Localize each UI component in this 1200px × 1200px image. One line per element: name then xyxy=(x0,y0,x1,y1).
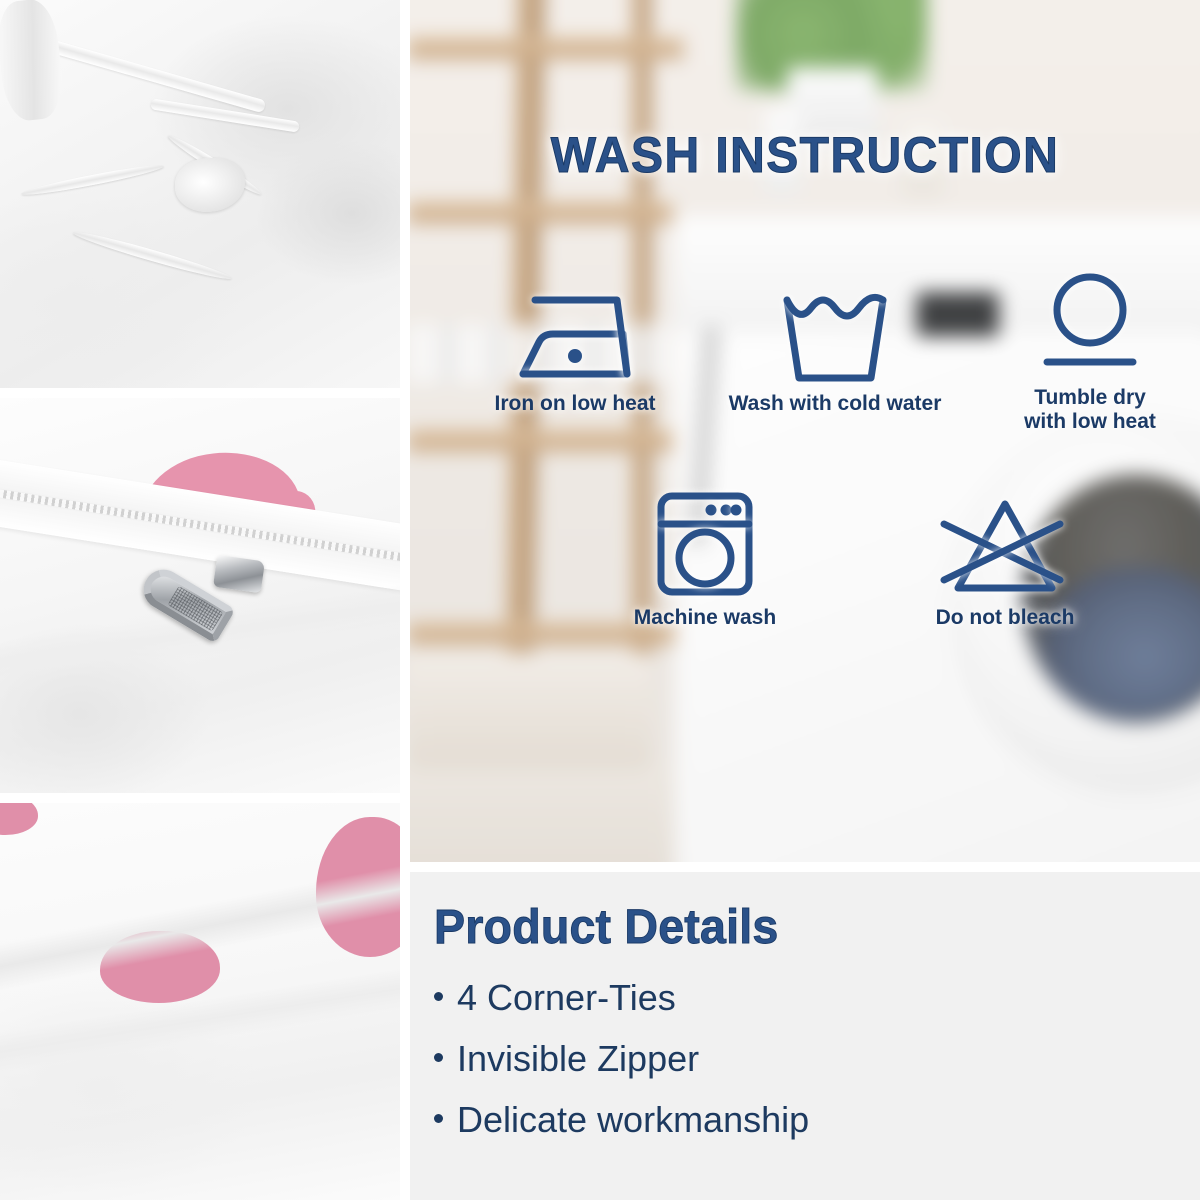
zipper-slider xyxy=(213,555,265,593)
care-symbol-label: Tumble dry with low heat xyxy=(985,386,1195,434)
care-symbol-label: Do not bleach xyxy=(850,606,1160,630)
wash-instruction-panel: WASH INSTRUCTION Iron on low heat xyxy=(410,0,1200,862)
bullet-icon xyxy=(434,1053,443,1062)
product-detail-text: Delicate workmanship xyxy=(457,1102,809,1138)
care-symbol-tumble-dry-low: Tumble dry with low heat xyxy=(985,272,1195,434)
care-symbol-label: Machine wash xyxy=(560,606,850,630)
product-details-list: 4 Corner-Ties Invisible Zipper Delicate … xyxy=(434,980,809,1163)
iron-icon xyxy=(450,278,700,386)
product-details-title: Product Details xyxy=(434,900,778,955)
care-symbol-grid: Iron on low heat Wash with cold water xyxy=(410,0,1200,862)
washing-machine-icon xyxy=(560,492,850,600)
photo-corner-tie-closeup xyxy=(0,0,400,388)
product-detail-item: Invisible Zipper xyxy=(434,1041,809,1077)
care-symbol-iron-low-heat: Iron on low heat xyxy=(450,278,700,416)
do-not-bleach-icon xyxy=(850,492,1160,600)
photo-fabric-pattern-closeup xyxy=(0,803,400,1200)
care-symbol-do-not-bleach: Do not bleach xyxy=(850,492,1160,630)
bullet-icon xyxy=(434,1114,443,1123)
photo-invisible-zipper-closeup xyxy=(0,398,400,793)
product-detail-text: Invisible Zipper xyxy=(457,1041,699,1077)
care-symbol-label: Iron on low heat xyxy=(450,392,700,416)
care-symbol-machine-wash: Machine wash xyxy=(560,492,850,630)
bullet-icon xyxy=(434,992,443,1001)
product-infographic: WASH INSTRUCTION Iron on low heat xyxy=(0,0,1200,1200)
care-symbol-label-line1: Tumble dry xyxy=(1034,386,1146,409)
tumble-dry-icon xyxy=(985,272,1195,380)
product-detail-item: 4 Corner-Ties xyxy=(434,980,809,1016)
product-detail-item: Delicate workmanship xyxy=(434,1102,809,1138)
care-symbol-label: Wash with cold water xyxy=(690,392,980,416)
care-symbol-label-line2: with low heat xyxy=(1024,410,1156,433)
care-symbol-wash-cold: Wash with cold water xyxy=(690,278,980,416)
product-details-panel: Product Details 4 Corner-Ties Invisible … xyxy=(410,872,1200,1200)
wash-tub-icon xyxy=(690,278,980,386)
photo-gallery-column xyxy=(0,0,400,1200)
product-detail-text: 4 Corner-Ties xyxy=(457,980,676,1016)
